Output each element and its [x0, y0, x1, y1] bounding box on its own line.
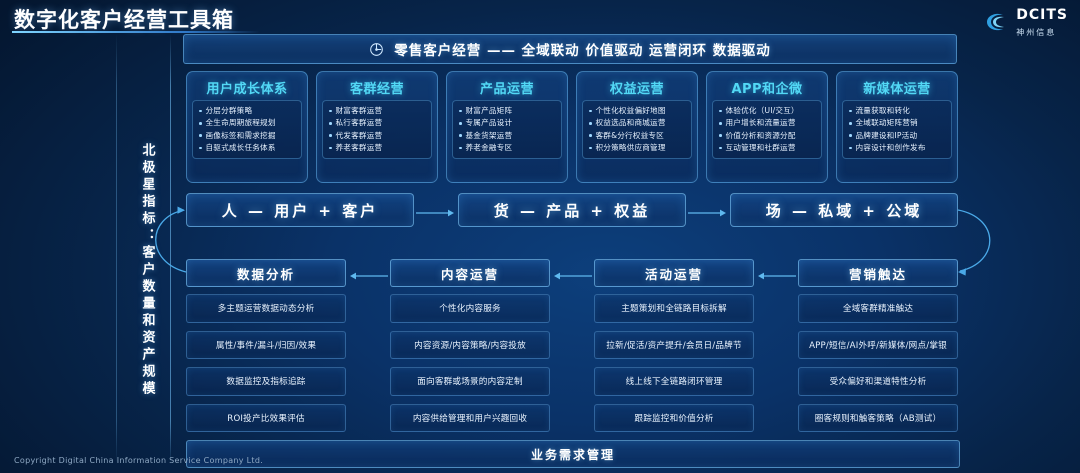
column-header-data-analysis[interactable]: 数据分析	[186, 259, 346, 287]
north-star-text: 北极星指标：客户数量和资产规模	[138, 143, 157, 398]
card-item: 私行客群运营	[327, 117, 428, 129]
card-item: 代发客群运营	[327, 130, 428, 142]
card-item: 财富客群运营	[327, 105, 428, 117]
grid-column-data-analysis: 多主题运营数据动态分析 属性/事件/漏斗/归因/效果 数据监控及指标追踪 ROI…	[186, 294, 346, 432]
grid-cell[interactable]: 线上线下全链路闭环管理	[594, 367, 754, 396]
flow-box-goods[interactable]: 货 — 产品 + 权益	[458, 193, 686, 227]
card-item: 互动管理和社群运营	[717, 142, 818, 154]
capability-card[interactable]: 产品运营 财富产品矩阵 专属产品设计 基金货架运营 养老金融专区	[446, 71, 568, 183]
column-header-content-ops[interactable]: 内容运营	[390, 259, 550, 287]
bottom-bar[interactable]: 业务需求管理	[186, 440, 960, 468]
dcits-swirl-icon	[984, 11, 1010, 33]
grid-cell[interactable]: 多主题运营数据动态分析	[186, 294, 346, 323]
card-item: 客群&分行权益专区	[587, 130, 688, 142]
card-item: 体验优化（UI/交互）	[717, 105, 818, 117]
grid-column-campaign-ops: 主题策划和全链路目标拆解 拉新/促活/资产提升/会员日/品牌节 线上线下全链路闭…	[594, 294, 754, 432]
grid-cell[interactable]: 跟踪监控和价值分析	[594, 404, 754, 433]
left-divider-inner	[170, 34, 171, 464]
grid-cell-label: 多主题运营数据动态分析	[218, 302, 315, 314]
card-item: 流量获取和转化	[847, 105, 948, 117]
capability-grid: 多主题运营数据动态分析 属性/事件/漏斗/归因/效果 数据监控及指标追踪 ROI…	[186, 294, 958, 432]
grid-cell-label: 个性化内容服务	[439, 302, 501, 314]
copyright-text: Copyright Digital China Information Serv…	[14, 456, 263, 465]
grid-cell[interactable]: 内容供给管理和用户兴趣回收	[390, 404, 550, 433]
grid-cell[interactable]: 拉新/促活/资产提升/会员日/品牌节	[594, 331, 754, 360]
slide-canvas: 数字化客户经营工具箱 DCITS 神州信息 北极星指标：客户数量和资产规模 零售…	[0, 0, 1080, 473]
capability-card[interactable]: 用户成长体系 分层分群策略 全生命周期旅程规划 画像标签和需求挖掘 自驱式成长任…	[186, 71, 308, 183]
grid-cell-label: 线上线下全链路闭环管理	[626, 375, 723, 387]
capability-card[interactable]: 权益运营 个性化权益偏好地图 权益选品和商城运营 客群&分行权益专区 积分策略供…	[576, 71, 698, 183]
card-title: 客群经营	[322, 78, 432, 97]
card-body: 财富客群运营 私行客群运营 代发客群运营 养老客群运营	[322, 100, 432, 159]
grid-cell-label: 受众偏好和渠道特性分析	[830, 375, 927, 387]
card-title: 产品运营	[452, 78, 562, 97]
capability-card[interactable]: APP和企微 体验优化（UI/交互） 用户增长和流量运营 价值分析和资源分配 互…	[706, 71, 828, 183]
grid-cell[interactable]: 全域客群精准触达	[798, 294, 958, 323]
flow-label: 人 — 用户 + 客户	[222, 200, 378, 221]
card-title: APP和企微	[712, 78, 822, 97]
grid-cell-label: APP/短信/AI外呼/新媒体/网点/掌银	[809, 339, 947, 351]
grid-cell-label: 跟踪监控和价值分析	[634, 412, 713, 424]
grid-column-marketing-reach: 全域客群精准触达 APP/短信/AI外呼/新媒体/网点/掌银 受众偏好和渠道特性…	[798, 294, 958, 432]
card-body: 分层分群策略 全生命周期旅程规划 画像标签和需求挖掘 自驱式成长任务体系	[192, 100, 302, 159]
grid-cell[interactable]: APP/短信/AI外呼/新媒体/网点/掌银	[798, 331, 958, 360]
card-item: 画像标签和需求挖掘	[197, 130, 298, 142]
card-body: 体验优化（UI/交互） 用户增长和流量运营 价值分析和资源分配 互动管理和社群运…	[712, 100, 822, 159]
grid-cell[interactable]: 个性化内容服务	[390, 294, 550, 323]
grid-cell-label: 圈客规则和触客策略（AB测试）	[815, 412, 942, 424]
card-item: 全生命周期旅程规划	[197, 117, 298, 129]
column-header-label: 内容运营	[441, 264, 499, 283]
card-item: 基金货架运营	[457, 130, 558, 142]
column-header-marketing-reach[interactable]: 营销触达	[798, 259, 958, 287]
logo-sub-text: 神州信息	[1016, 28, 1056, 37]
grid-cell-label: 全域客群精准触达	[843, 302, 913, 314]
grid-cell[interactable]: 属性/事件/漏斗/归因/效果	[186, 331, 346, 360]
card-title: 新媒体运营	[842, 78, 952, 97]
grid-cell-label: 面向客群或场景的内容定制	[417, 375, 523, 387]
grid-cell[interactable]: 面向客群或场景的内容定制	[390, 367, 550, 396]
card-item: 自驱式成长任务体系	[197, 142, 298, 154]
card-item: 个性化权益偏好地图	[587, 105, 688, 117]
flow-box-field[interactable]: 场 — 私域 + 公域	[730, 193, 958, 227]
card-item: 品牌建设和IP活动	[847, 130, 948, 142]
capability-card[interactable]: 新媒体运营 流量获取和转化 全域联动矩阵营销 品牌建设和IP活动 内容设计和创作…	[836, 71, 958, 183]
card-item: 权益选品和商城运营	[587, 117, 688, 129]
card-title: 用户成长体系	[192, 78, 302, 97]
card-body: 流量获取和转化 全域联动矩阵营销 品牌建设和IP活动 内容设计和创作发布	[842, 100, 952, 159]
grid-cell[interactable]: 圈客规则和触客策略（AB测试）	[798, 404, 958, 433]
column-header-label: 营销触达	[849, 264, 907, 283]
card-item: 分层分群策略	[197, 105, 298, 117]
grid-cell-label: 内容供给管理和用户兴趣回收	[413, 412, 527, 424]
card-item: 积分策略供应商管理	[587, 142, 688, 154]
card-item: 内容设计和创作发布	[847, 142, 948, 154]
left-divider-outer	[116, 34, 117, 464]
grid-cell[interactable]: 内容资源/内容策略/内容投放	[390, 331, 550, 360]
grid-column-content-ops: 个性化内容服务 内容资源/内容策略/内容投放 面向客群或场景的内容定制 内容供给…	[390, 294, 550, 432]
logo-main-text: DCITS	[1016, 7, 1068, 23]
dcits-logo: DCITS 神州信息	[984, 6, 1068, 38]
flow-box-people[interactable]: 人 — 用户 + 客户	[186, 193, 414, 227]
column-header-campaign-ops[interactable]: 活动运营	[594, 259, 754, 287]
card-body: 财富产品矩阵 专属产品设计 基金货架运营 养老金融专区	[452, 100, 562, 159]
arrow-left-icon	[550, 267, 594, 279]
grid-cell-label: 数据监控及指标追踪	[226, 375, 305, 387]
grid-cell-label: ROI投产比效果评估	[227, 412, 304, 424]
card-body: 个性化权益偏好地图 权益选品和商城运营 客群&分行权益专区 积分策略供应商管理	[582, 100, 692, 159]
page-title: 数字化客户经营工具箱	[14, 4, 234, 34]
capability-cards: 用户成长体系 分层分群策略 全生命周期旅程规划 画像标签和需求挖掘 自驱式成长任…	[186, 71, 958, 183]
arrow-right-icon	[414, 204, 458, 216]
card-title: 权益运营	[582, 78, 692, 97]
target-compass-icon	[369, 42, 384, 57]
arrow-left-icon	[346, 267, 390, 279]
pgc-flow-row: 人 — 用户 + 客户 货 — 产品 + 权益 场 — 私域 + 公域	[186, 194, 958, 226]
grid-cell[interactable]: 受众偏好和渠道特性分析	[798, 367, 958, 396]
title-underline	[12, 31, 260, 33]
operation-header-row: 数据分析 内容运营 活动运营 营销触达	[186, 260, 958, 286]
grid-cell-label: 拉新/促活/资产提升/会员日/品牌节	[606, 339, 742, 351]
north-star-label: 北极星指标：客户数量和资产规模	[130, 95, 164, 445]
card-item: 养老客群运营	[327, 142, 428, 154]
column-header-label: 活动运营	[645, 264, 703, 283]
card-item: 专属产品设计	[457, 117, 558, 129]
card-item: 养老金融专区	[457, 142, 558, 154]
grid-cell[interactable]: ROI投产比效果评估	[186, 404, 346, 433]
grid-cell[interactable]: 数据监控及指标追踪	[186, 367, 346, 396]
top-banner: 零售客户经营 —— 全域联动 价值驱动 运营闭环 数据驱动	[183, 34, 957, 64]
column-header-label: 数据分析	[237, 264, 295, 283]
grid-cell-label: 内容资源/内容策略/内容投放	[414, 339, 526, 351]
flow-label: 货 — 产品 + 权益	[494, 200, 650, 221]
grid-cell-label: 主题策划和全链路目标拆解	[621, 302, 727, 314]
flow-label: 场 — 私域 + 公域	[766, 200, 922, 221]
card-item: 用户增长和流量运营	[717, 117, 818, 129]
grid-cell-label: 属性/事件/漏斗/归因/效果	[216, 339, 316, 351]
bottom-bar-label: 业务需求管理	[531, 446, 615, 463]
banner-text: 零售客户经营 —— 全域联动 价值驱动 运营闭环 数据驱动	[394, 39, 771, 59]
arrow-left-icon	[754, 267, 798, 279]
logo-text: DCITS 神州信息	[1016, 6, 1068, 38]
card-item: 财富产品矩阵	[457, 105, 558, 117]
grid-cell[interactable]: 主题策划和全链路目标拆解	[594, 294, 754, 323]
capability-card[interactable]: 客群经营 财富客群运营 私行客群运营 代发客群运营 养老客群运营	[316, 71, 438, 183]
card-item: 价值分析和资源分配	[717, 130, 818, 142]
arrow-right-icon	[686, 204, 730, 216]
card-item: 全域联动矩阵营销	[847, 117, 948, 129]
